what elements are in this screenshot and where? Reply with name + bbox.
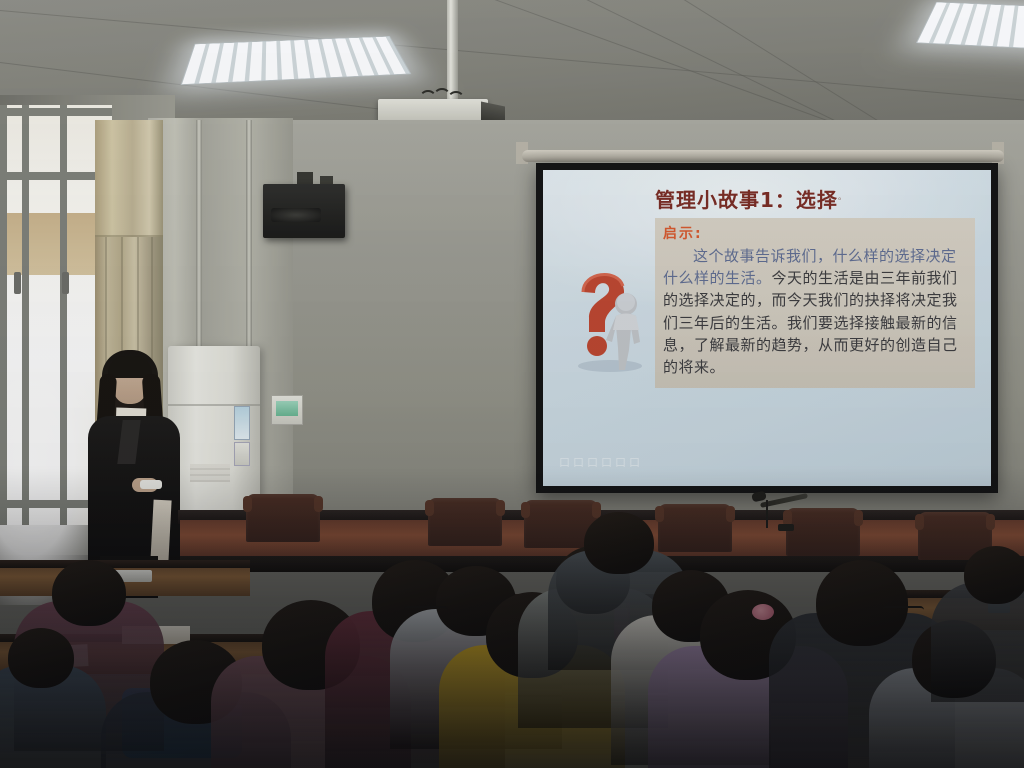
microphone-stem [766,500,768,528]
wall-control-panel[interactable] [271,395,303,425]
student-head [52,560,126,626]
slide-title: 管理小故事1：选择。 [655,184,983,213]
screen-roller-housing [522,150,1004,162]
ac-vent [190,464,230,482]
screen-surface: 管理小故事1：选择。 启示: [543,170,991,486]
student-head [964,546,1024,604]
speaker-grille [271,208,321,222]
slide-watermark: 口口口口口口 [559,454,643,470]
presenter-notes [150,500,171,563]
podium-chair[interactable] [428,498,502,546]
window-handle[interactable] [14,272,21,294]
podium-chair[interactable] [246,494,320,542]
student-head [584,512,654,574]
wall-speaker [263,184,345,238]
classroom-photo: 管理小故事1：选择。 启示: [0,0,1024,768]
window-mullion [0,105,7,525]
slide-text-panel: 启示: 这个故事告诉我们，什么样的选择决定什么样的生活。今天的生活是由三年前我们… [655,218,975,388]
eyeglasses [882,606,924,614]
presentation-clicker[interactable] [140,480,162,489]
podium-chair[interactable] [786,508,860,556]
presenter [78,350,188,580]
slide-title-text: 管理小故事1：选择 [655,188,838,212]
podium-chair[interactable] [658,504,732,552]
student-head [8,628,74,688]
pull-down-projection-screen: 管理小故事1：选择。 启示: [536,163,998,493]
eyeglasses [404,606,448,614]
slide-title-superscript: 。 [838,192,848,202]
question-mark-icon [569,262,651,372]
window-mullion [0,108,112,116]
window-mullion [22,105,29,525]
slide-paragraph: 这个故事告诉我们，什么样的选择决定什么样的生活。今天的生活是由三年前我们的选择决… [663,245,967,378]
projector-mount-pole [447,0,458,100]
desk-edge [0,560,250,568]
slide-hint-label: 启示: [663,223,967,243]
window-mullion [60,105,67,525]
hair-scrunchie [752,604,774,620]
window-handle[interactable] [62,272,69,294]
student-head [816,560,908,646]
window-curtain-valance [95,120,163,237]
ac-label [234,406,250,440]
ac-label [234,442,250,466]
microphone-base [778,524,794,531]
